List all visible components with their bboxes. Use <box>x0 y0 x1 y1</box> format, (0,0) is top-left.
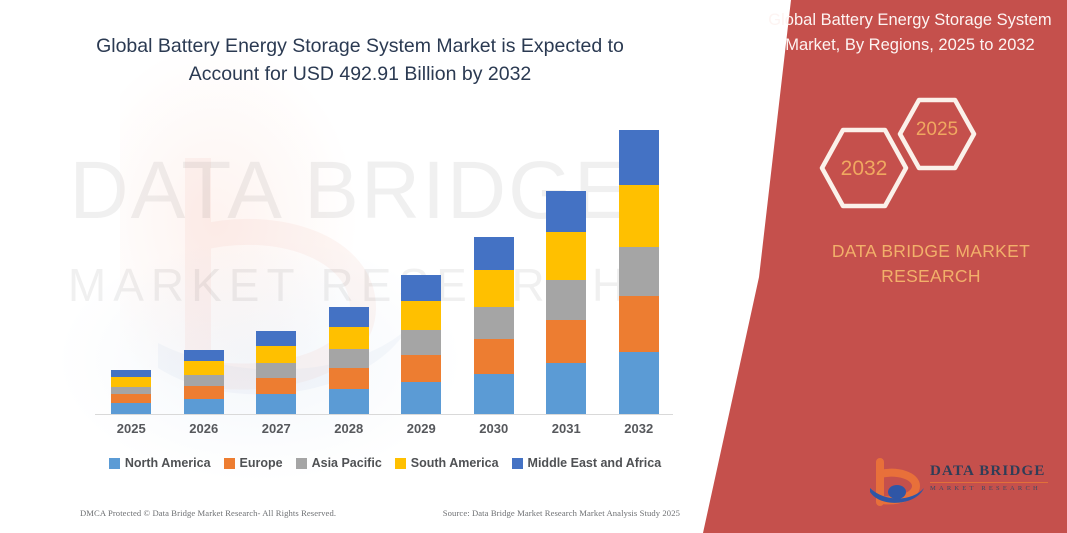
bar-segment <box>329 327 369 350</box>
bar-segment <box>401 301 441 330</box>
legend-label: Europe <box>240 456 283 470</box>
bar-column <box>603 120 675 414</box>
bar-segment <box>111 403 151 414</box>
stacked-bar <box>474 237 514 414</box>
bar-segment <box>184 399 224 414</box>
bar-segment <box>111 377 151 387</box>
footer-source: Source: Data Bridge Market Research Mark… <box>443 508 680 518</box>
bar-segment <box>256 363 296 377</box>
stacked-bar <box>329 307 369 414</box>
footer-copyright: DMCA Protected © Data Bridge Market Rese… <box>80 508 336 518</box>
legend-item[interactable]: Asia Pacific <box>296 456 382 470</box>
bar-segment <box>619 130 659 185</box>
bar-segment <box>329 307 369 326</box>
chart-legend: North AmericaEuropeAsia PacificSouth Ame… <box>95 456 675 470</box>
legend-item[interactable]: Middle East and Africa <box>512 456 662 470</box>
x-axis-label: 2025 <box>95 421 167 436</box>
bar-segment <box>619 352 659 414</box>
chart-title: Global Battery Energy Storage System Mar… <box>60 32 660 89</box>
bar-segment <box>184 375 224 386</box>
dbmr-logo-mark-icon <box>868 458 926 508</box>
bar-segment <box>256 394 296 414</box>
dbmr-logo-name: DATA BRIDGE <box>930 463 1048 480</box>
stacked-bar <box>619 130 659 414</box>
bar-segment <box>546 320 586 364</box>
x-axis-labels: 20252026202720282029203020312032 <box>95 421 675 436</box>
bar-column <box>458 120 530 414</box>
bar-column <box>385 120 457 414</box>
bar-segment <box>111 370 151 378</box>
legend-item[interactable]: North America <box>109 456 211 470</box>
brand-name: DATA BRIDGE MARKET RESEARCH <box>800 239 1062 290</box>
bar-column <box>168 120 240 414</box>
x-axis-label: 2031 <box>530 421 602 436</box>
bar-segment <box>329 389 369 414</box>
bar-segment <box>474 374 514 414</box>
bar-segment <box>256 331 296 346</box>
stacked-bar <box>401 275 441 414</box>
x-axis-label: 2029 <box>385 421 457 436</box>
bar-column <box>95 120 167 414</box>
legend-label: North America <box>125 456 211 470</box>
stacked-bar <box>184 350 224 414</box>
x-axis-label: 2027 <box>240 421 312 436</box>
bar-segment <box>546 191 586 232</box>
bar-segment <box>546 232 586 280</box>
legend-item[interactable]: Europe <box>224 456 283 470</box>
bar-segment <box>474 307 514 338</box>
hexagon-group: 2032 2025 <box>818 96 1018 216</box>
bar-segment <box>474 270 514 308</box>
bar-column <box>313 120 385 414</box>
stacked-bar-chart <box>95 120 675 414</box>
bar-segment <box>184 386 224 399</box>
legend-swatch-icon <box>512 458 523 469</box>
footer: DMCA Protected © Data Bridge Market Rese… <box>80 508 680 518</box>
bar-segment <box>111 387 151 395</box>
bar-segment <box>619 185 659 247</box>
x-axis-label: 2026 <box>168 421 240 436</box>
bar-segment <box>111 394 151 403</box>
bar-segment <box>474 237 514 270</box>
stacked-bar <box>111 370 151 414</box>
panel-heading: Global Battery Energy Storage System Mar… <box>760 8 1060 58</box>
legend-label: Middle East and Africa <box>528 456 662 470</box>
bar-column <box>240 120 312 414</box>
bar-segment <box>546 363 586 414</box>
bar-segment <box>401 330 441 355</box>
dbmr-logo-text: DATA BRIDGE MARKET RESEARCH <box>930 463 1048 492</box>
bar-segment <box>329 368 369 389</box>
x-axis-label: 2030 <box>458 421 530 436</box>
stacked-bar <box>256 331 296 414</box>
dbmr-logo-sub: MARKET RESEARCH <box>930 485 1048 492</box>
x-axis-label: 2032 <box>603 421 675 436</box>
dbmr-logo-rule <box>930 482 1048 484</box>
legend-swatch-icon <box>224 458 235 469</box>
bar-segment <box>184 350 224 362</box>
bar-column <box>530 120 602 414</box>
stacked-bar <box>546 191 586 414</box>
bar-segment <box>401 382 441 414</box>
bar-segment <box>619 247 659 297</box>
bar-segment <box>256 378 296 394</box>
legend-swatch-icon <box>109 458 120 469</box>
bar-segment <box>401 275 441 301</box>
dbmr-logo: DATA BRIDGE MARKET RESEARCH <box>868 458 1058 510</box>
x-axis-label: 2028 <box>313 421 385 436</box>
bar-segment <box>184 361 224 375</box>
infographic-page: DATA BRIDGE MARKET RESEARCH Global Batte… <box>0 0 1067 533</box>
bar-segment <box>256 346 296 364</box>
bar-segment <box>546 280 586 320</box>
hexagon-near-year: 2025 <box>896 96 978 172</box>
x-axis-line <box>95 414 673 415</box>
legend-swatch-icon <box>296 458 307 469</box>
legend-label: South America <box>411 456 499 470</box>
bar-segment <box>329 349 369 368</box>
legend-swatch-icon <box>395 458 406 469</box>
legend-item[interactable]: South America <box>395 456 499 470</box>
hexagon-near-year-label: 2025 <box>896 119 978 141</box>
bar-segment <box>401 355 441 382</box>
bar-segment <box>619 296 659 351</box>
legend-label: Asia Pacific <box>312 456 382 470</box>
bar-segment <box>474 339 514 374</box>
